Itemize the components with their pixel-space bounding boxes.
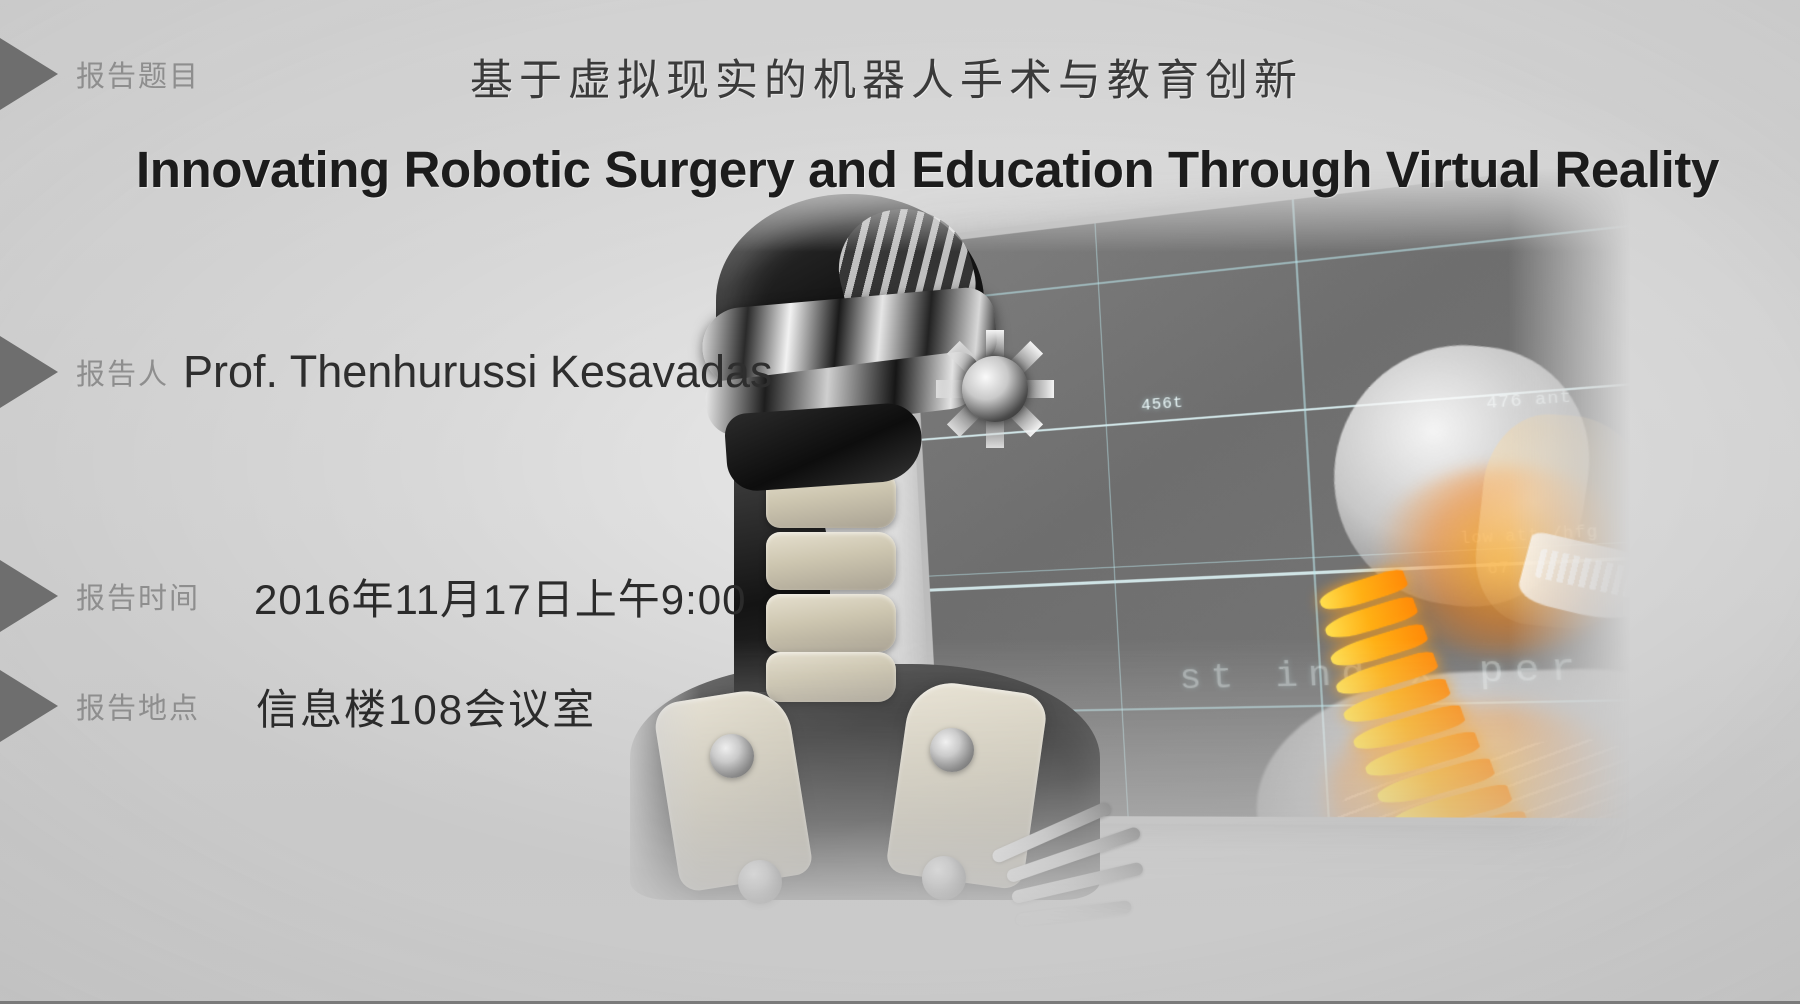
scan-ribcage [1317,728,1672,827]
robot-bolt-2 [930,728,974,772]
row-time: 报告时间 2016年11月17日上午9:00 [0,560,747,632]
value-place: 信息楼108会议室 [256,676,596,737]
screen-label-index: st index per [1178,648,1588,700]
seminar-poster-slide: 456t 476 ant low att /hfg 67 783 7785695… [0,0,1800,1004]
label-title: 报告题目 [76,53,200,95]
robot-side-gear [936,330,1054,448]
row-place: 报告地点 信息楼108会议室 [0,670,596,742]
scan-skull [1317,335,1606,622]
robot-bolt-3 [738,860,782,904]
row-speaker: 报告人 Prof. Thenhurussi Kesavadas [0,336,773,408]
triangle-marker-time-icon [0,560,58,632]
triangle-marker-place-icon [0,670,58,742]
screen-label-456t: 456t [1141,394,1184,415]
scan-shoulder-glow [1322,702,1657,827]
value-speaker: Prof. Thenhurussi Kesavadas [183,346,773,398]
screen-label-67: 67 [1487,560,1511,579]
robot-neck-column [766,470,900,706]
value-time: 2016年11月17日上午9:00 [254,566,747,627]
label-place: 报告地点 [76,685,200,727]
title-english: Innovating Robotic Surgery and Education… [136,140,1719,199]
label-time: 报告时间 [76,575,200,617]
robot-operator-figure [630,194,1100,894]
triangle-marker-title-icon [0,38,58,110]
title-chinese: 基于虚拟现实的机器人手术与教育创新 [470,46,1303,108]
row-title: 报告题目 [0,38,200,110]
screen-label-476ant: 476 ant [1486,388,1573,414]
triangle-marker-speaker-icon [0,336,58,408]
robot-vr-illustration: 456t 476 ant low att /hfg 67 783 7785695… [620,168,1630,928]
robot-bolt-1 [710,734,754,778]
label-speaker: 报告人 [76,351,169,393]
robot-bolt-4 [922,856,966,900]
